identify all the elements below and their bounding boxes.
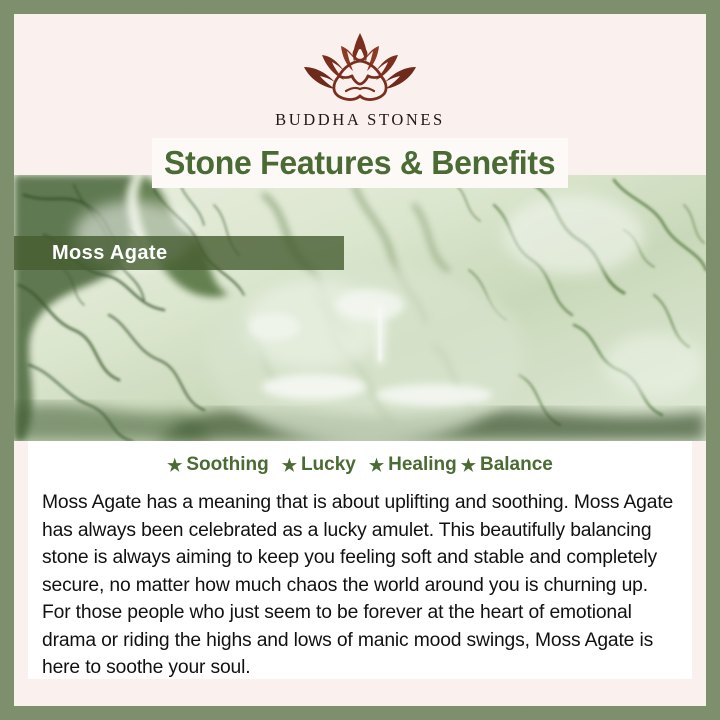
star-icon: ★ [167,457,182,474]
benefit-label-balance: Balance [480,454,553,476]
stone-texture-graphic [14,175,706,441]
right-green-border [706,0,720,720]
benefit-item-balance: ★Balance [461,454,553,476]
brand-logo: BUDDHA STONES [275,29,445,130]
content-card: BUDDHA STONES Stone Features & Benefits [14,14,706,706]
page-title: Stone Features & Benefits [164,144,555,182]
left-green-border [0,0,14,720]
stone-name-plate: Moss Agate [14,236,344,270]
moss-agate-stone-photo: Moss Agate [14,175,706,441]
page-title-box: Stone Features & Benefits [152,138,568,188]
star-icon: ★ [461,457,476,474]
infographic-canvas: BUDDHA STONES Stone Features & Benefits [0,0,720,720]
brand-name: BUDDHA STONES [275,110,445,130]
star-icon: ★ [369,457,384,474]
benefit-label-soothing: Soothing [186,454,268,476]
benefit-label-healing: Healing [388,454,457,476]
lotus-meditation-icon [284,29,436,107]
benefit-item-healing: ★Healing [369,454,457,476]
star-icon: ★ [282,457,297,474]
benefits-panel: ★Soothing ★Lucky ★Healing ★Balance Moss … [28,441,692,679]
benefit-label-lucky: Lucky [301,454,356,476]
benefit-item-lucky: ★Lucky [282,454,356,476]
benefit-item-soothing: ★Soothing [167,454,269,476]
stone-description: Moss Agate has a meaning that is about u… [28,485,692,682]
benefits-row: ★Soothing ★Lucky ★Healing ★Balance [28,441,692,485]
stone-name: Moss Agate [14,242,168,265]
